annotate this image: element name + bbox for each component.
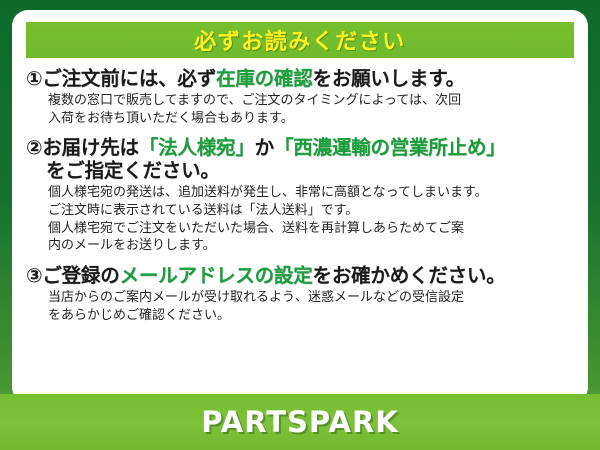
notice-item-2-body-line-1: 個人様宅宛の発送は、追加送料が発生し、非常に高額となってしまいます。 — [48, 184, 574, 202]
notice-item-2-body-line-3: 個人様宅宛でご注文をいただいた場合、送料を再計算しあらためてご案 — [48, 220, 574, 238]
notice-item-2-body-line-4: 内のメールをお送りします。 — [48, 237, 574, 255]
notice-item-3-marker: ③ — [26, 264, 42, 287]
notice-item-1-heading-part-3: をお願いします。 — [313, 67, 465, 90]
banner-title: 必ずお読みください — [194, 24, 406, 56]
notice-item-3-heading-part-1: ご登録の — [42, 264, 119, 287]
notice-item-2-marker: ② — [26, 136, 42, 159]
notice-item-1-marker: ① — [26, 67, 42, 90]
notice-item-2-heading-continuation: をご指定ください。 — [26, 159, 574, 182]
brand-footer: PARTSPARK — [0, 394, 600, 450]
notice-item-2-heading-part-2: 「法人様宛」 — [139, 136, 255, 159]
brand-wordmark: PARTSPARK — [201, 405, 399, 439]
notice-item-1-body: 複数の窓口で販売してますので、ご注文のタイミングによっては、次回入荷をお待ち頂い… — [26, 92, 574, 127]
notice-item-1-heading-part-2: 在庫の確認 — [216, 67, 313, 90]
notice-item-2-body-line-2: ご注文時に表示されている送料は「法人送料」です。 — [48, 202, 574, 220]
notice-item-3-heading-part-2: メールアドレスの設定 — [120, 264, 313, 287]
notice-item-1-heading-part-1: ご注文前には、必ず — [42, 67, 216, 90]
notice-item-3-heading: ③ご登録のメールアドレスの設定をお確かめください。 — [26, 264, 574, 287]
notice-item-2-heading: ②お届け先は「法人様宛」か「西濃運輸の営業所止め」をご指定ください。 — [26, 136, 574, 182]
notice-poster: 必ずお読みください ①ご注文前には、必ず在庫の確認をお願いします。 複数の窓口で… — [0, 0, 600, 450]
banner: 必ずお読みください — [26, 22, 574, 58]
notice-item-1-body-line-2: 入荷をお待ち頂いただく場合もあります。 — [48, 110, 574, 128]
notice-item-2-heading-part-3: か — [255, 136, 274, 159]
notice-item-1: ①ご注文前には、必ず在庫の確認をお願いします。 複数の窓口で販売してますので、ご… — [26, 67, 574, 127]
notice-item-3-heading-part-3: をお確かめください。 — [313, 264, 506, 287]
notice-item-1-body-line-1: 複数の窓口で販売してますので、ご注文のタイミングによっては、次回 — [48, 92, 574, 110]
notice-item-1-heading: ①ご注文前には、必ず在庫の確認をお願いします。 — [26, 67, 574, 90]
notice-card: 必ずお読みください ①ご注文前には、必ず在庫の確認をお願いします。 複数の窓口で… — [12, 10, 588, 403]
notice-item-2-heading-part-4: 「西濃運輸の営業所止め」 — [274, 136, 506, 159]
notice-item-2-heading-part-1: お届け先は — [42, 136, 139, 159]
notice-item-2: ②お届け先は「法人様宛」か「西濃運輸の営業所止め」をご指定ください。 個人様宅宛… — [26, 136, 574, 255]
notice-item-3: ③ご登録のメールアドレスの設定をお確かめください。 当店からのご案内メールが受け… — [26, 264, 574, 324]
notice-item-2-body: 個人様宅宛の発送は、追加送料が発生し、非常に高額となってしまいます。ご注文時に表… — [26, 184, 574, 255]
notice-item-3-body: 当店からのご案内メールが受け取れるよう、迷惑メールなどの受信設定をあらかじめご確… — [26, 289, 574, 324]
notice-item-3-body-line-2: をあらかじめご確認ください。 — [48, 307, 574, 325]
notice-item-3-body-line-1: 当店からのご案内メールが受け取れるよう、迷惑メールなどの受信設定 — [48, 289, 574, 307]
